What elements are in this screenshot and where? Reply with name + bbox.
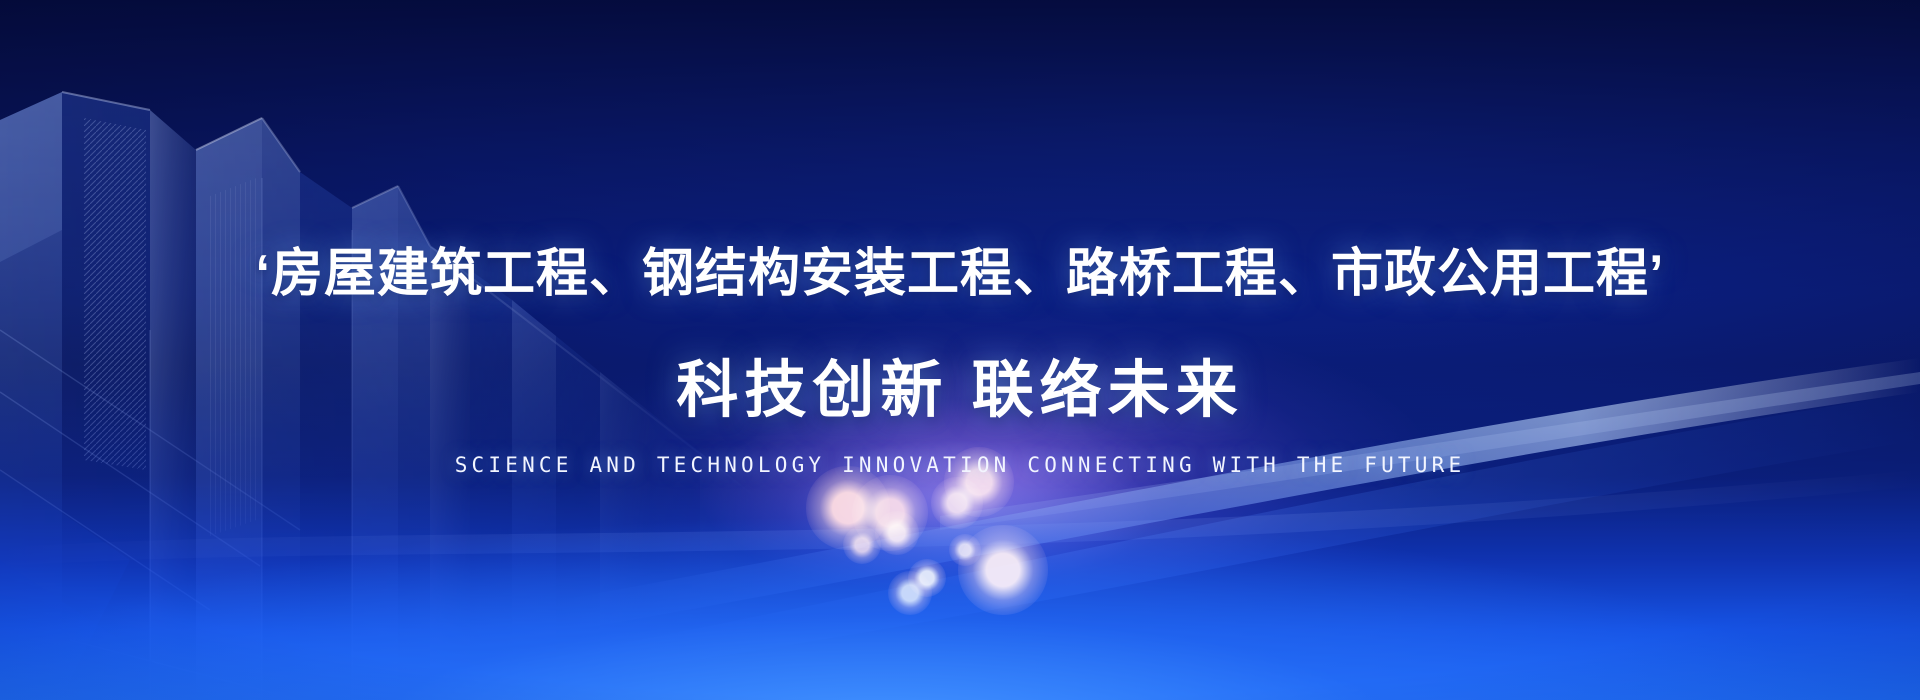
banner-subheadline: 科技创新 联络未来 bbox=[0, 360, 1920, 422]
banner-headline: ‘房屋建筑工程、钢结构安装工程、路桥工程、市政公用工程’ bbox=[0, 248, 1920, 300]
banner-root: ‘房屋建筑工程、钢结构安装工程、路桥工程、市政公用工程’ 科技创新 联络未来 S… bbox=[0, 0, 1920, 700]
banner-tagline-english: SCIENCE AND TECHNOLOGY INNOVATION CONNEC… bbox=[0, 455, 1920, 476]
light-streak-group bbox=[0, 0, 1920, 700]
